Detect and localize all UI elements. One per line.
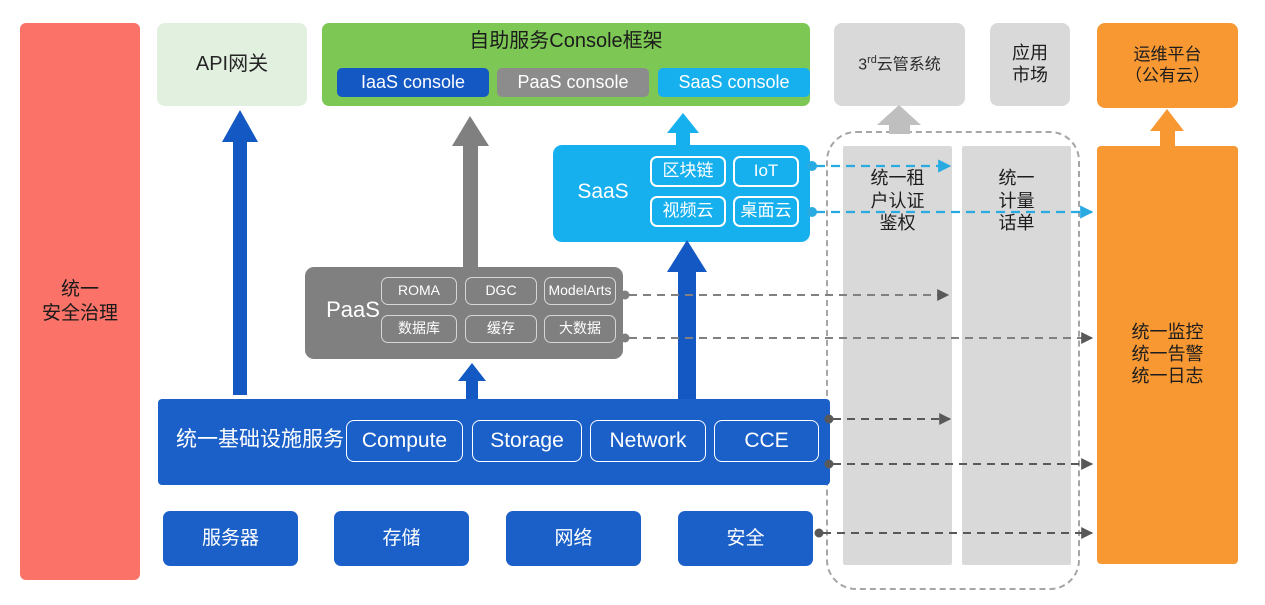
hardware-network-label: 网络 — [554, 527, 592, 550]
infra-chip-cce[interactable]: CCE — [714, 420, 819, 462]
paas-chip-cache[interactable]: 缓存 — [465, 315, 537, 343]
unified-infrastructure-service-block[interactable]: 统一基础设施服务 Compute Storage Network CCE — [158, 399, 830, 485]
saas-chip-desktop-cloud[interactable]: 桌面云 — [733, 196, 799, 227]
saas-chip-video-cloud[interactable]: 视频云 — [650, 196, 726, 227]
infra-chip-storage[interactable]: Storage — [472, 420, 582, 462]
unified-metering-billing-column[interactable]: 统一 计量 话单 — [962, 146, 1071, 565]
metering-line3: 话单 — [962, 212, 1071, 235]
paas-chip-database[interactable]: 数据库 — [381, 315, 457, 343]
unified-security-governance-label: 统一 安全治理 — [42, 278, 118, 324]
paas-block[interactable]: PaaS ROMA DGC ModelArts 数据库 缓存 大数据 — [305, 267, 623, 359]
paas-chip-dgc[interactable]: DGC — [465, 277, 537, 305]
paas-chip-bigdata[interactable]: 大数据 — [544, 315, 616, 343]
auth-line1: 统一租 — [843, 167, 952, 190]
architecture-diagram-canvas: 统一 安全治理 API网关 自助服务Console框架 IaaS console… — [0, 0, 1265, 605]
saas-chip-blockchain[interactable]: 区块链 — [650, 156, 726, 187]
infra-chip-network[interactable]: Network — [590, 420, 706, 462]
unified-security-governance-block[interactable]: 统一 安全治理 — [20, 23, 140, 580]
iaas-console-chip[interactable]: IaaS console — [337, 68, 489, 97]
arrow-saas-to-saas-console — [667, 113, 699, 146]
arrow-infra-to-saas — [667, 240, 707, 399]
unified-log-line: 统一日志 — [1132, 366, 1204, 388]
auth-line2: 户认证 — [843, 190, 952, 213]
hardware-network-block[interactable]: 网络 — [506, 511, 641, 566]
self-service-console-framework-block[interactable]: 自助服务Console框架 IaaS console PaaS console … — [322, 23, 810, 106]
third-party-superscript: rd — [867, 54, 877, 66]
unified-monitoring-label: 统一监控 统一告警 统一日志 — [1132, 322, 1204, 388]
unified-metering-label: 统一 计量 话单 — [962, 167, 1071, 235]
app-market-line2: 市场 — [1012, 65, 1048, 87]
metering-line2: 计量 — [962, 190, 1071, 213]
ops-platform-line1: 运维平台 — [1125, 45, 1210, 66]
paas-chip-modelarts[interactable]: ModelArts — [544, 277, 616, 305]
arrow-infra-to-paas — [458, 363, 486, 399]
unified-monitoring-line1: 统一监控 — [1132, 322, 1204, 344]
saas-chip-iot[interactable]: IoT — [733, 156, 799, 187]
hardware-security-block[interactable]: 安全 — [678, 511, 813, 566]
saas-label: SaaS — [567, 179, 639, 205]
hardware-storage-label: 存储 — [382, 527, 420, 550]
hardware-server-label: 服务器 — [202, 527, 259, 550]
api-gateway-label: API网关 — [196, 52, 268, 76]
third-party-cloud-management-block[interactable]: 3rd云管系统 — [834, 23, 965, 106]
paas-console-chip[interactable]: PaaS console — [497, 68, 649, 97]
api-gateway-block[interactable]: API网关 — [157, 23, 307, 106]
app-market-block[interactable]: 应用 市场 — [990, 23, 1070, 106]
paas-label: PaaS — [317, 297, 389, 324]
ops-platform-line2: （公有云） — [1125, 66, 1210, 87]
unified-monitoring-block[interactable]: 统一监控 统一告警 统一日志 — [1097, 146, 1238, 564]
metering-line1: 统一 — [962, 167, 1071, 190]
unified-tenant-auth-column[interactable]: 统一租 户认证 鉴权 — [843, 146, 952, 565]
unified-alarm-line: 统一告警 — [1132, 344, 1204, 366]
unified-tenant-auth-label: 统一租 户认证 鉴权 — [843, 167, 952, 235]
ops-platform-label: 运维平台 （公有云） — [1125, 45, 1210, 86]
saas-console-chip[interactable]: SaaS console — [658, 68, 810, 97]
unified-infrastructure-label: 统一基础设施服务 — [170, 427, 350, 453]
arrow-monitoring-to-ops-platform — [1150, 109, 1184, 147]
infra-chip-compute[interactable]: Compute — [346, 420, 463, 462]
paas-chip-roma[interactable]: ROMA — [381, 277, 457, 305]
app-market-label: 应用 市场 — [1012, 43, 1048, 87]
console-framework-title: 自助服务Console框架 — [322, 29, 810, 53]
third-party-suffix: 云管系统 — [877, 56, 941, 73]
arrow-infra-to-api-gateway — [222, 110, 258, 395]
hardware-security-label: 安全 — [726, 527, 764, 550]
arrow-paas-to-console — [452, 116, 489, 268]
security-label-line1: 统一 — [42, 278, 118, 301]
auth-line3: 鉴权 — [843, 212, 952, 235]
security-label-line2: 安全治理 — [42, 302, 118, 325]
third-party-prefix: 3 — [858, 56, 867, 73]
arrow-shared-services-to-third-party — [877, 105, 921, 134]
ops-platform-public-cloud-block[interactable]: 运维平台 （公有云） — [1097, 23, 1238, 108]
hardware-storage-block[interactable]: 存储 — [334, 511, 469, 566]
saas-block[interactable]: SaaS 区块链 IoT 视频云 桌面云 — [553, 145, 810, 242]
app-market-line1: 应用 — [1012, 43, 1048, 65]
third-party-cloud-label: 3rd云管系统 — [858, 54, 941, 75]
hardware-server-block[interactable]: 服务器 — [163, 511, 298, 566]
